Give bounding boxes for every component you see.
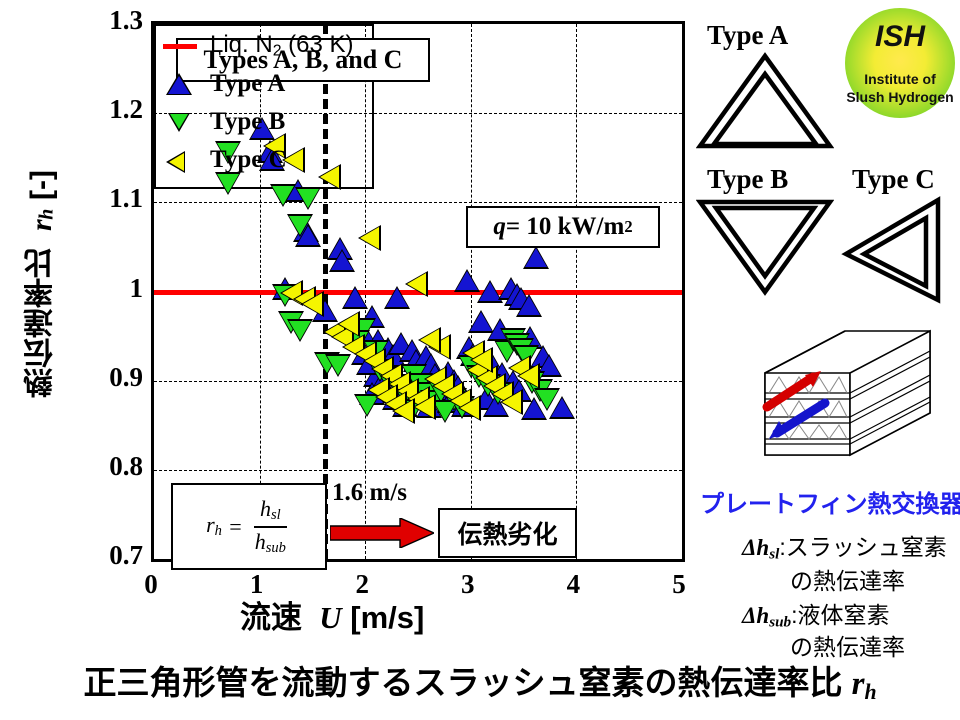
red-line-icon (162, 33, 198, 59)
ratio-formula: rh = hsl hsub (206, 496, 292, 556)
y-tick-label: 0.9 (88, 364, 143, 391)
type-b-title: Type B (707, 164, 788, 195)
legend-item-liqn2: Liq. N2 (63 K) (162, 28, 354, 64)
type-c-triangle-icon (840, 196, 950, 306)
degradation-arrow-icon (330, 518, 434, 548)
y-tick-label: 1 (88, 275, 143, 302)
ratio-formula-box: rh = hsl hsub (171, 483, 327, 570)
type-a-triangle-icon (696, 52, 834, 150)
ish-logo: ISH Institute of Slush Hydrogen (843, 6, 957, 120)
legend-item-type-b: Type B (162, 104, 285, 140)
hx-caption: プレートフィン熱交換器 (700, 484, 960, 519)
formula-equals: = (228, 514, 243, 540)
y-tick-label: 1.2 (88, 96, 143, 123)
threshold-speed-label: 1.6 m/s (332, 479, 407, 507)
legend-label-type-c: Type C (210, 146, 287, 174)
y-tick-label: 0.8 (88, 453, 143, 480)
heat-flux-annotation: q = 10 kW/m2 (466, 206, 660, 248)
x-tick-label: 4 (548, 571, 598, 598)
y-tick-label: 1.1 (88, 185, 143, 212)
legend-label-liqn2: Liq. N2 (63 K) (210, 31, 354, 60)
degradation-box: 伝熱劣化 (438, 508, 577, 558)
type-a-title: Type A (707, 20, 788, 51)
ish-acronym: ISH (875, 20, 926, 53)
degradation-label: 伝熱劣化 (457, 515, 557, 551)
heat-flux-value: = 10 kW/m (506, 213, 624, 241)
legend-label-type-a: Type A (210, 70, 285, 98)
type-c-title: Type C (852, 164, 935, 195)
y-axis-ticks: 0.70.80.911.11.21.3 (88, 0, 143, 720)
heat-flux-symbol: q (493, 213, 506, 241)
left-triangle-icon (162, 147, 198, 173)
formula-numerator: hsl (254, 496, 287, 527)
x-axis-label: 流速 U [m/s] (240, 592, 424, 637)
ish-line2: Slush Hydrogen (846, 89, 953, 105)
note-hsub: Δhsub:液体窒素 (742, 596, 890, 631)
formula-fraction: hsl hsub (249, 496, 292, 556)
type-b-triangle-icon (696, 196, 834, 296)
x-tick-label: 0 (126, 571, 176, 598)
x-tick-label: 3 (443, 571, 493, 598)
gridline-horizontal (154, 202, 682, 203)
up-triangle-icon (162, 71, 198, 97)
note-hsl: Δhsl:スラッシュ窒素 (742, 528, 947, 563)
y-tick-label: 1.3 (88, 7, 143, 34)
plate-fin-heat-exchanger-icon (745, 315, 945, 485)
legend-item-type-c: Type C (162, 142, 287, 178)
down-triangle-icon (162, 109, 198, 135)
ish-line1: Institute of (864, 71, 936, 87)
gridline-horizontal (154, 470, 682, 471)
formula-lhs: rh (206, 512, 222, 540)
heat-flux-exponent: 2 (624, 217, 632, 237)
x-tick-label: 5 (654, 571, 704, 598)
y-axis-label: 熱伝達率比 rh [-] (20, 170, 70, 398)
legend-item-type-a: Type A (162, 66, 285, 102)
note-hsl-cont: の熱伝達率 (790, 562, 905, 596)
formula-denominator: hsub (249, 528, 292, 557)
figure-caption: 正三角形管を流動するスラッシュ窒素の熱伝達率比 rh (0, 656, 960, 705)
chart-plot-area: Types A, B, and C Liq. N2 (63 K) Type A … (151, 21, 685, 562)
legend-label-type-b: Type B (210, 108, 285, 136)
